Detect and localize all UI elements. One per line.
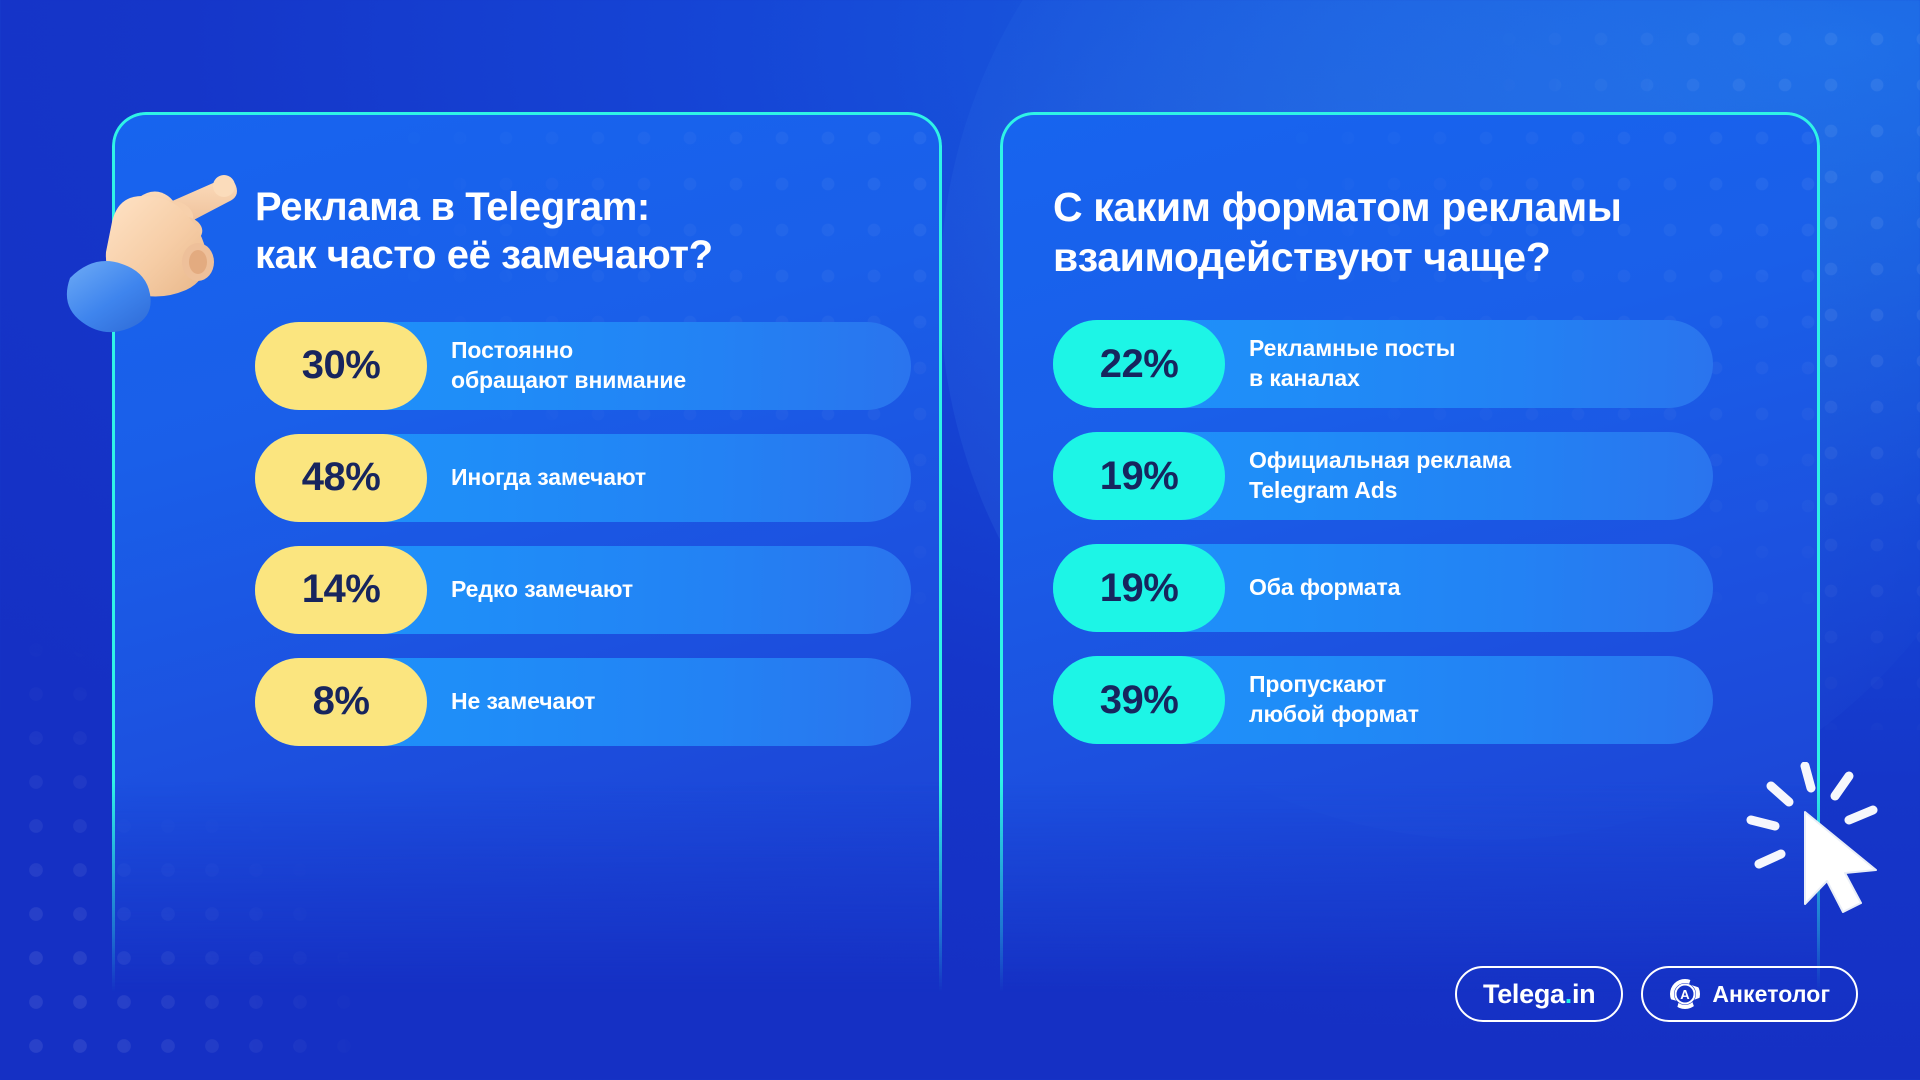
stat-row: 19% Официальная реклама Telegram Ads bbox=[1053, 432, 1713, 520]
card-ad-format-interaction: С каким форматом рекламы взаимодействуют… bbox=[1000, 112, 1820, 992]
click-cursor-icon bbox=[1745, 762, 1890, 917]
stat-row: 22% Рекламные посты в каналах bbox=[1053, 320, 1713, 408]
stat-value-badge: 19% bbox=[1053, 544, 1225, 632]
right-card-rows: 22% Рекламные посты в каналах 19% Официа… bbox=[1053, 320, 1787, 744]
telega-dot: . bbox=[1565, 979, 1572, 1009]
stat-value-badge: 8% bbox=[255, 658, 427, 746]
stat-label: Рекламные посты в каналах bbox=[1249, 334, 1455, 394]
stat-label: Иногда замечают bbox=[451, 463, 646, 493]
pointing-hand-icon bbox=[52, 150, 252, 335]
telega-in-logo[interactable]: Telega.in bbox=[1455, 966, 1623, 1022]
telega-name: Telega bbox=[1483, 979, 1565, 1009]
stat-value-badge: 14% bbox=[255, 546, 427, 634]
stat-value-badge: 22% bbox=[1053, 320, 1225, 408]
stat-label: Официальная реклама Telegram Ads bbox=[1249, 446, 1511, 506]
stat-row: 14% Редко замечают bbox=[255, 546, 911, 634]
stat-value-badge: 39% bbox=[1053, 656, 1225, 744]
stat-row: 30% Постоянно обращают внимание bbox=[255, 322, 911, 410]
stat-row: 48% Иногда замечают bbox=[255, 434, 911, 522]
telega-tld: in bbox=[1572, 979, 1595, 1009]
stat-label: Оба формата bbox=[1249, 573, 1400, 603]
stat-value-badge: 48% bbox=[255, 434, 427, 522]
stat-label: Не замечают bbox=[451, 687, 595, 717]
anketolog-mark-letter: A bbox=[1681, 987, 1691, 1002]
left-card-title: Реклама в Telegram: как часто её замечаю… bbox=[255, 183, 903, 280]
stat-value-badge: 19% bbox=[1053, 432, 1225, 520]
left-card-rows: 30% Постоянно обращают внимание 48% Иног… bbox=[255, 322, 903, 746]
stat-row: 19% Оба формата bbox=[1053, 544, 1713, 632]
anketolog-mark-icon: A bbox=[1669, 978, 1701, 1010]
logo-bar: Telega.in A Анкетолог bbox=[1455, 966, 1858, 1022]
stat-value-badge: 30% bbox=[255, 322, 427, 410]
right-card-title: С каким форматом рекламы взаимодействуют… bbox=[1053, 183, 1787, 282]
stat-row: 39% Пропускают любой формат bbox=[1053, 656, 1713, 744]
anketolog-wordmark: Анкетолог bbox=[1712, 981, 1830, 1008]
telega-in-wordmark: Telega.in bbox=[1483, 979, 1595, 1010]
anketolog-logo[interactable]: A Анкетолог bbox=[1641, 966, 1858, 1022]
stat-label: Постоянно обращают внимание bbox=[451, 336, 686, 396]
stat-row: 8% Не замечают bbox=[255, 658, 911, 746]
stat-label: Пропускают любой формат bbox=[1249, 670, 1419, 730]
stat-label: Редко замечают bbox=[451, 575, 633, 605]
